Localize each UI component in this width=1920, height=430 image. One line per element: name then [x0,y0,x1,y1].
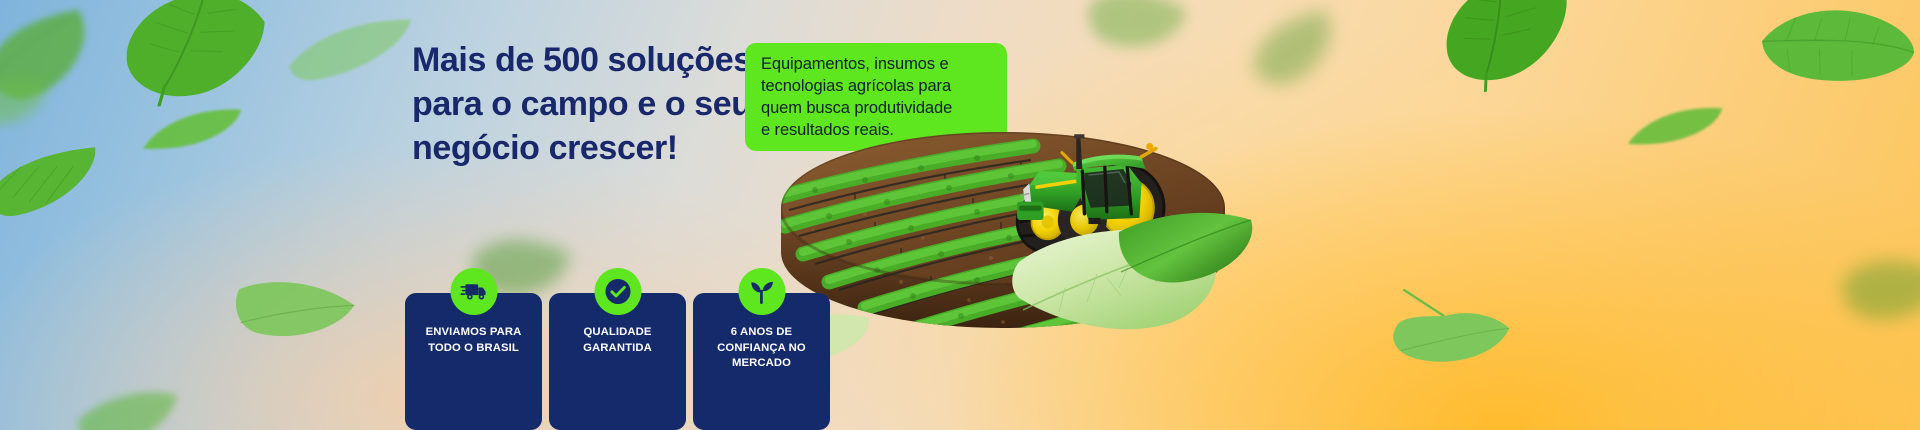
leaf-decoration [0,0,120,118]
leaf-decoration [1066,0,1208,80]
hero-banner: Mais de 500 soluções para o campo e o se… [0,0,1920,430]
badge-label-line: CONFIANÇA NO [717,341,806,357]
badge-label: 6 ANOS DE CONFIANÇA NO MERCADO [717,325,806,372]
leaf-decoration [112,0,282,118]
leaf-decoration [69,379,188,430]
badge-label-line: QUALIDADE [583,325,652,341]
badge-label-line: GARANTIDA [583,341,652,357]
delivery-truck-icon [450,268,497,315]
leaf-decoration [0,68,65,137]
page-title: Mais de 500 soluções para o campo e o se… [412,38,742,171]
leaf-decoration [0,141,108,223]
leaf-decoration [1427,0,1591,98]
badge-label-line: MERCADO [717,356,806,372]
badge-label-line: TODO O BRASIL [426,341,522,357]
badge-label: ENVIAMOS PARA TODO O BRASIL [426,325,522,356]
callout-line-2: tecnologias agrícolas para [761,76,993,98]
feature-badges: ENVIAMOS PARA TODO O BRASIL QUALIDADE GA… [405,268,830,430]
badge-label: QUALIDADE GARANTIDA [583,325,652,356]
badge-label-line: ENVIAMOS PARA [426,325,522,341]
callout-line-1: Equipamentos, insumos e [761,54,993,76]
badge-experience[interactable]: 6 ANOS DE CONFIANÇA NO MERCADO [693,268,830,430]
sprout-icon [738,268,785,315]
leaf-decoration [139,102,248,153]
headline-line-2: para o campo e o seu [412,82,742,126]
headline-line-1: Mais de 500 soluções [412,38,742,82]
check-circle-icon [594,268,641,315]
leaf-decoration [1826,234,1920,349]
callout-line-3: quem busca produtividade [761,98,993,120]
badge-label-line: 6 ANOS DE [717,325,806,341]
headline-line-3: negócio crescer! [412,126,742,170]
badge-shipping[interactable]: ENVIAMOS PARA TODO O BRASIL [405,268,542,430]
leaf-decoration [1232,0,1362,100]
leaf-decoration [226,262,360,358]
leaf-decoration [1623,101,1729,148]
badge-quality[interactable]: QUALIDADE GARANTIDA [549,268,686,430]
leaf-decoration [281,13,421,91]
leaf-decoration [1381,286,1518,389]
leaf-decoration [1747,0,1920,102]
